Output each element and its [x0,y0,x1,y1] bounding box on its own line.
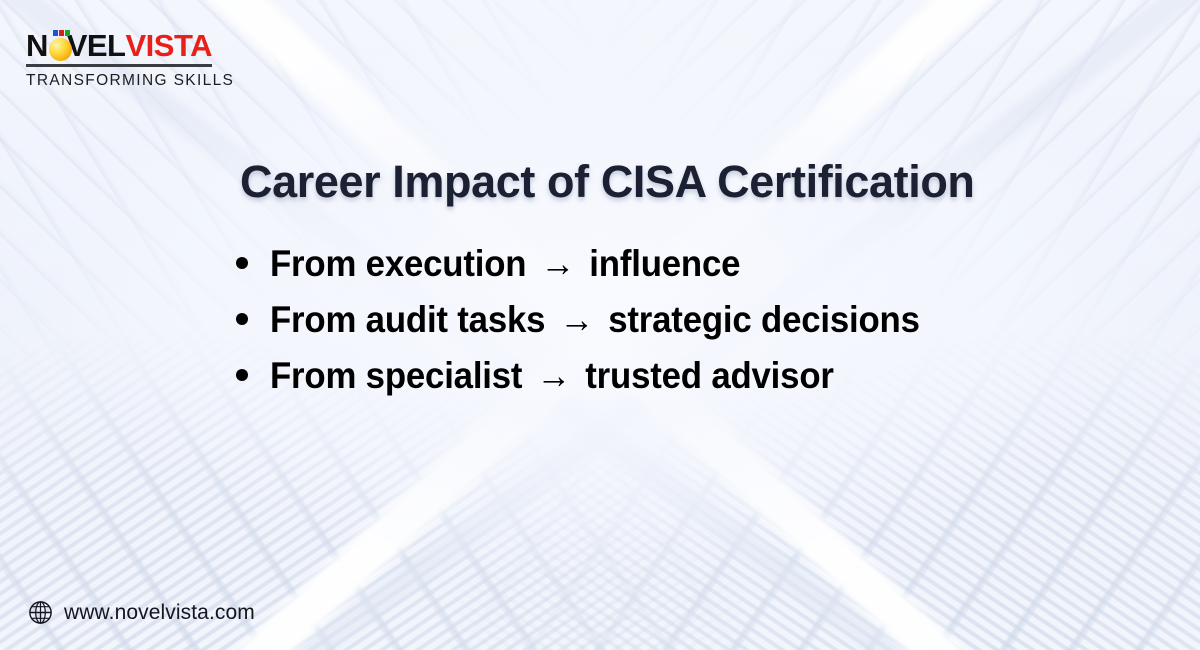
logo-letters-vista: VISTA [126,30,213,61]
list-item-label: From audit tasks → strategic decisions [270,299,920,341]
globe-icon [28,600,53,625]
list-item-label: From execution → influence [270,243,740,285]
list-item: From execution → influence [236,243,961,299]
footer[interactable]: www.novelvista.com [28,600,255,625]
logo-divider [26,64,212,67]
slide-canvas: N VEL VISTA TRANSFORMING SKILLS Career I… [0,0,1200,650]
logo-letter-n: N [26,30,48,61]
list-item: From specialist → trusted advisor [236,355,961,411]
novelvista-logo[interactable]: N VEL VISTA TRANSFORMING SKILLS [26,29,212,90]
list-item: From audit tasks → strategic decisions [236,299,961,355]
bullet-dot-icon [236,257,248,269]
career-impact-list: From execution → influence From audit ta… [236,243,961,411]
logo-wordmark: N VEL VISTA [26,29,212,61]
logo-tagline: TRANSFORMING SKILLS [26,72,212,90]
lightbulb-icon [48,30,67,61]
website-url[interactable]: www.novelvista.com [64,601,255,625]
page-title: Career Impact of CISA Certification [240,156,975,208]
bullet-dot-icon [236,313,248,325]
logo-letters-vel: VEL [67,30,126,61]
list-item-label: From specialist → trusted advisor [270,355,834,397]
bullet-dot-icon [236,369,248,381]
lightbulb-pixels [53,30,70,36]
